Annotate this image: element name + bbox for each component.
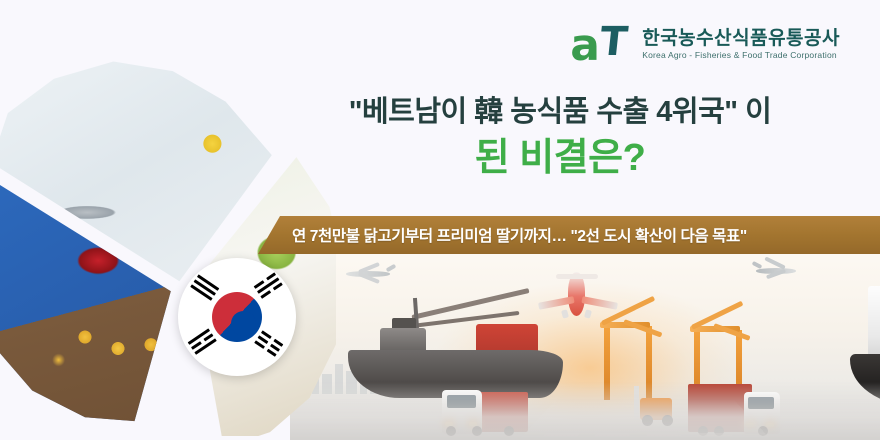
airplane-top-left — [340, 264, 400, 286]
logo-letter-t: T — [598, 22, 630, 62]
delivery-truck-right — [688, 374, 780, 434]
container-ship-right — [850, 266, 880, 406]
airplane-top-right — [752, 260, 804, 284]
port-cranes — [590, 290, 780, 400]
subtitle-text: 연 7천만불 닭고기부터 프리미엄 딸기까지… "2선 도시 확산이 다음 목표… — [292, 224, 747, 246]
cargo-ship-left — [348, 300, 563, 398]
headline-line-1: "베트남이 韓 농식품 수출 4위국" 이 — [300, 96, 820, 129]
poster-canvas: a T 한국농수산식품유통공사 Korea Agro - Fisheries &… — [0, 0, 880, 440]
taeguk-symbol — [212, 292, 262, 342]
cargo-airplane-center — [540, 272, 616, 318]
logo-letter-a: a — [570, 26, 600, 66]
logo-korean-name: 한국농수산식품유통공사 — [642, 29, 840, 49]
headline-block: "베트남이 韓 농식품 수출 4위국" 이 된 비결은? — [300, 96, 820, 181]
headline-line-2: 된 비결은? — [300, 137, 820, 181]
korean-flag-icon — [178, 258, 296, 376]
subtitle-banner: 연 7천만불 닭고기부터 프리미엄 딸기까지… "2선 도시 확산이 다음 목표… — [258, 216, 880, 254]
delivery-truck-center — [442, 378, 528, 434]
at-corporate-logo: a T 한국농수산식품유통공사 Korea Agro - Fisheries &… — [570, 24, 840, 64]
trigram-geon — [190, 274, 220, 301]
forklift — [632, 386, 684, 426]
road-markings — [517, 400, 773, 440]
trigram-gon — [254, 330, 284, 357]
logo-english-name: Korea Agro - Fisheries & Food Trade Corp… — [642, 51, 840, 60]
at-logo-mark-icon: a T — [570, 24, 632, 64]
trigram-gam — [254, 272, 284, 299]
trigram-ri — [188, 328, 218, 355]
logistics-scene — [290, 248, 880, 440]
